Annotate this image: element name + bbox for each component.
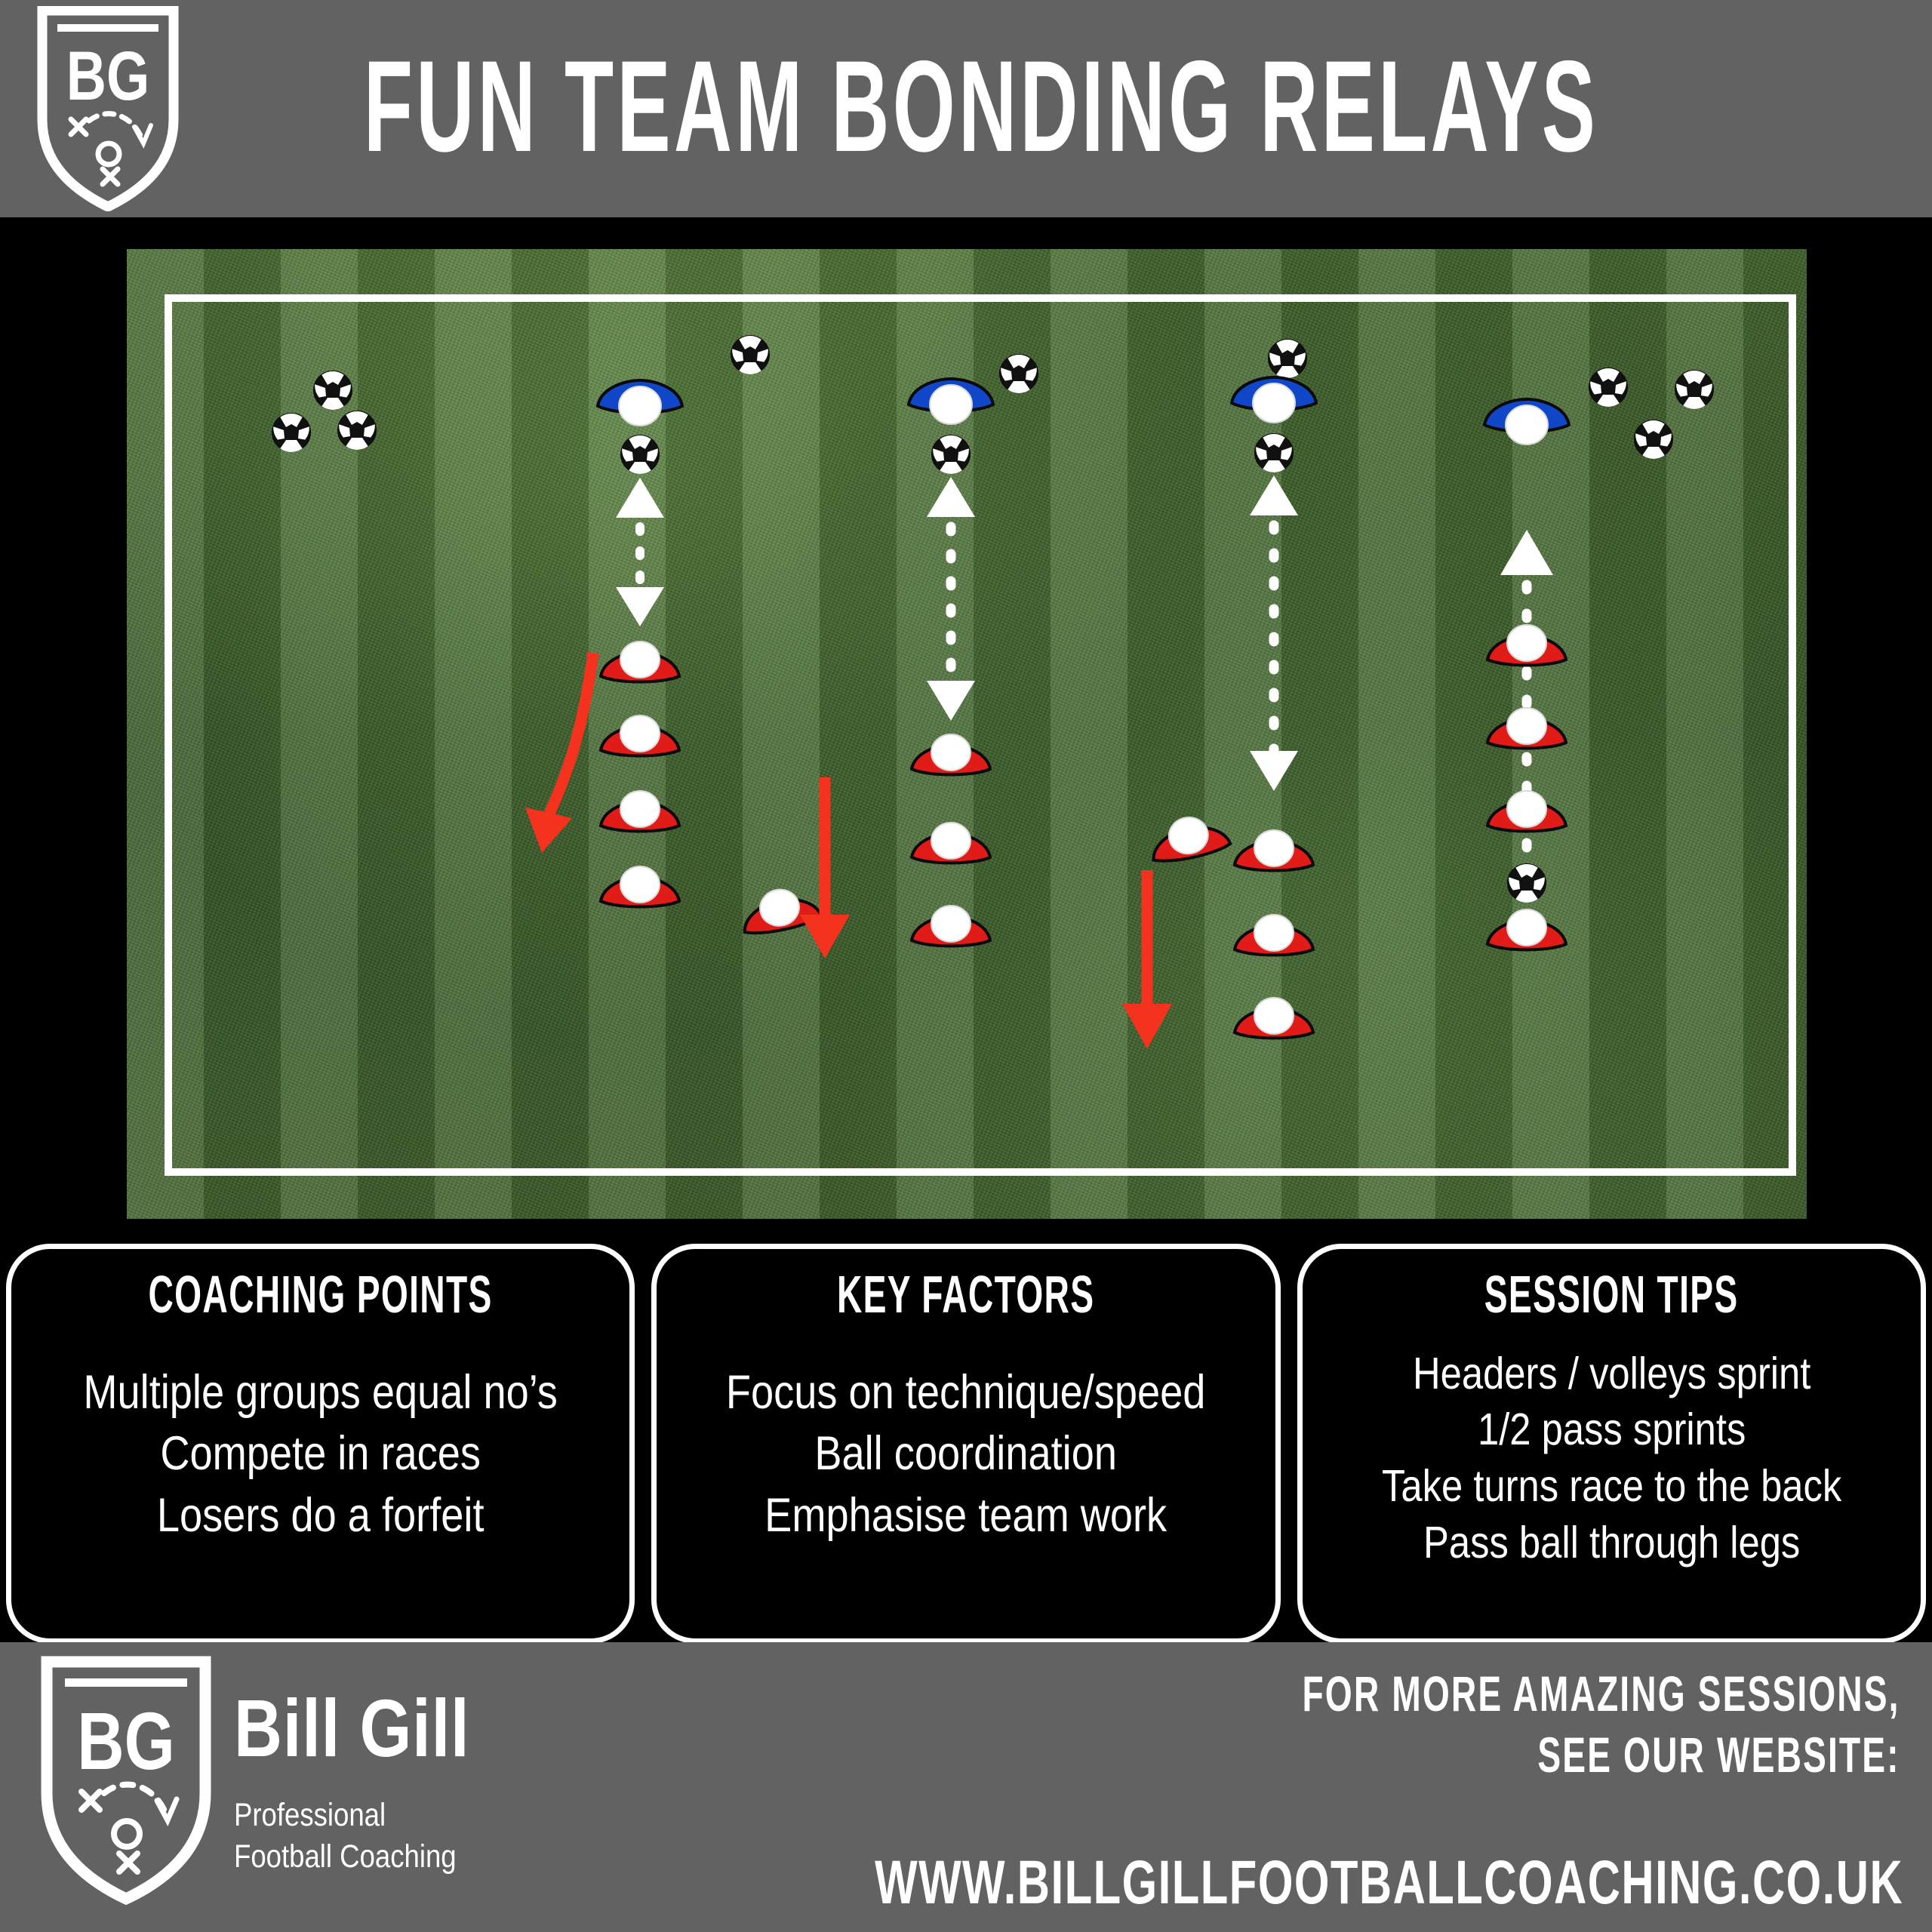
player-red-bib [1146, 810, 1232, 866]
player-blue-bib [909, 379, 993, 424]
run-direction-arrow [800, 777, 850, 958]
key-factors-line: Focus on technique/speed [700, 1362, 1232, 1424]
poster-root: BG FUN TEAM BONDING RELAYS [0, 0, 1932, 1932]
cta-block: FOR MORE AMAZING SESSIONS, SEE OUR WEBSI… [1046, 1663, 1900, 1785]
session-tips-title: SESSION TIPS [1484, 1267, 1739, 1323]
pass-movement-dotted-arrow [616, 478, 664, 626]
cta-line-2: SEE OUR WEBSITE: [1303, 1724, 1900, 1786]
session-tips-line: Pass ball through legs [1346, 1515, 1878, 1571]
player-blue-bib [1232, 377, 1316, 423]
info-box-row: COACHING POINTS Multiple groups equal no… [0, 1244, 1932, 1644]
player-red-bib [912, 734, 990, 775]
pass-movement-dotted-arrow [1250, 475, 1298, 791]
header-bar: BG FUN TEAM BONDING RELAYS [0, 0, 1932, 217]
session-tips-line: Headers / volleys sprint [1346, 1346, 1878, 1402]
player-red-bib [1235, 915, 1313, 955]
player-red-bib [912, 906, 990, 946]
svg-text:BG: BG [77, 1695, 175, 1786]
loose-ball-top-3 [1269, 340, 1306, 378]
page-title: FUN TEAM BONDING RELAYS [513, 17, 1449, 198]
player-red-bib [1235, 830, 1313, 871]
coaching-points-line: Compete in races [54, 1423, 586, 1485]
player-blue-bib [598, 380, 682, 426]
website-url[interactable]: WWW.BILLGILLFOOTBALLCOACHING.CO.UK [875, 1847, 1903, 1918]
cta-line-1: FOR MORE AMAZING SESSIONS, [1303, 1663, 1900, 1724]
session-tips-box: SESSION TIPS Headers / volleys sprint 1/… [1297, 1244, 1926, 1644]
loose-ball-left-3 [338, 411, 376, 450]
player-red-bib [1487, 791, 1566, 832]
bg-shield-logo-icon: BG [36, 6, 180, 211]
relay-column-3 [1122, 377, 1316, 1049]
player-red-bib [1235, 998, 1313, 1038]
brand-subtitle-line2: Football Coaching [234, 1836, 478, 1878]
coaching-points-title: COACHING POINTS [149, 1267, 493, 1323]
soccer-ball [932, 435, 970, 474]
player-red-bib [601, 866, 679, 907]
pitch-markers-layer [127, 249, 1807, 1219]
player-red-bib [1487, 708, 1566, 749]
loose-ball-top-2 [1000, 355, 1038, 393]
loose-ball-right-1 [1589, 368, 1627, 407]
brand-subtitle-line1: Professional [234, 1795, 478, 1836]
player-red-bib [1487, 909, 1566, 950]
loose-ball-right-3 [1635, 420, 1672, 459]
key-factors-title: KEY FACTORS [837, 1267, 1094, 1323]
soccer-ball [1508, 864, 1546, 903]
relay-column-2 [737, 379, 993, 958]
session-tips-line: 1/2 pass sprints [1346, 1401, 1878, 1458]
loose-ball-left-1 [272, 414, 310, 452]
loose-ball-left-2 [314, 371, 352, 410]
coaching-points-lines: Multiple groups equal no’s Compete in ra… [54, 1362, 586, 1548]
player-red-bib [912, 823, 990, 863]
key-factors-line: Emphasise team work [700, 1485, 1232, 1547]
key-factors-lines: Focus on technique/speed Ball coordinati… [700, 1362, 1232, 1548]
player-red-bib [601, 641, 679, 682]
run-direction-arrow [525, 653, 593, 853]
brand-subtitle: Professional Football Coaching [234, 1795, 478, 1878]
brand-name: Bill Gill [234, 1687, 469, 1769]
coaching-points-box: COACHING POINTS Multiple groups equal no… [6, 1244, 635, 1644]
relay-column-1 [525, 380, 682, 907]
brand-block: Bill Gill Professional Football Coaching [234, 1687, 521, 1878]
loose-ball-top-1 [731, 336, 769, 374]
key-factors-line: Ball coordination [700, 1423, 1232, 1485]
session-tips-lines: Headers / volleys sprint 1/2 pass sprint… [1346, 1346, 1878, 1572]
bg-shield-logo-icon: BG [39, 1656, 213, 1905]
key-factors-box: KEY FACTORS Focus on technique/speed Bal… [651, 1244, 1280, 1644]
player-red-bib [1487, 625, 1566, 666]
player-red-bib [601, 715, 679, 756]
coaching-points-line: Losers do a forfeit [54, 1485, 586, 1547]
pass-movement-dotted-arrow [927, 477, 975, 721]
soccer-ball [1255, 434, 1293, 472]
footer-bar: BG Bill Gill Professional Football Coach… [0, 1642, 1932, 1932]
session-tips-line: Take turns race to the back [1346, 1458, 1878, 1515]
player-blue-bib [1484, 399, 1569, 445]
loose-ball-right-2 [1675, 371, 1713, 409]
pitch-diagram [127, 249, 1807, 1219]
player-red-bib [601, 791, 679, 832]
svg-text:BG: BG [66, 37, 149, 115]
run-direction-arrow [1122, 870, 1172, 1049]
relay-column-4 [1484, 399, 1569, 950]
coaching-points-line: Multiple groups equal no’s [54, 1362, 586, 1424]
soccer-ball [621, 435, 659, 474]
